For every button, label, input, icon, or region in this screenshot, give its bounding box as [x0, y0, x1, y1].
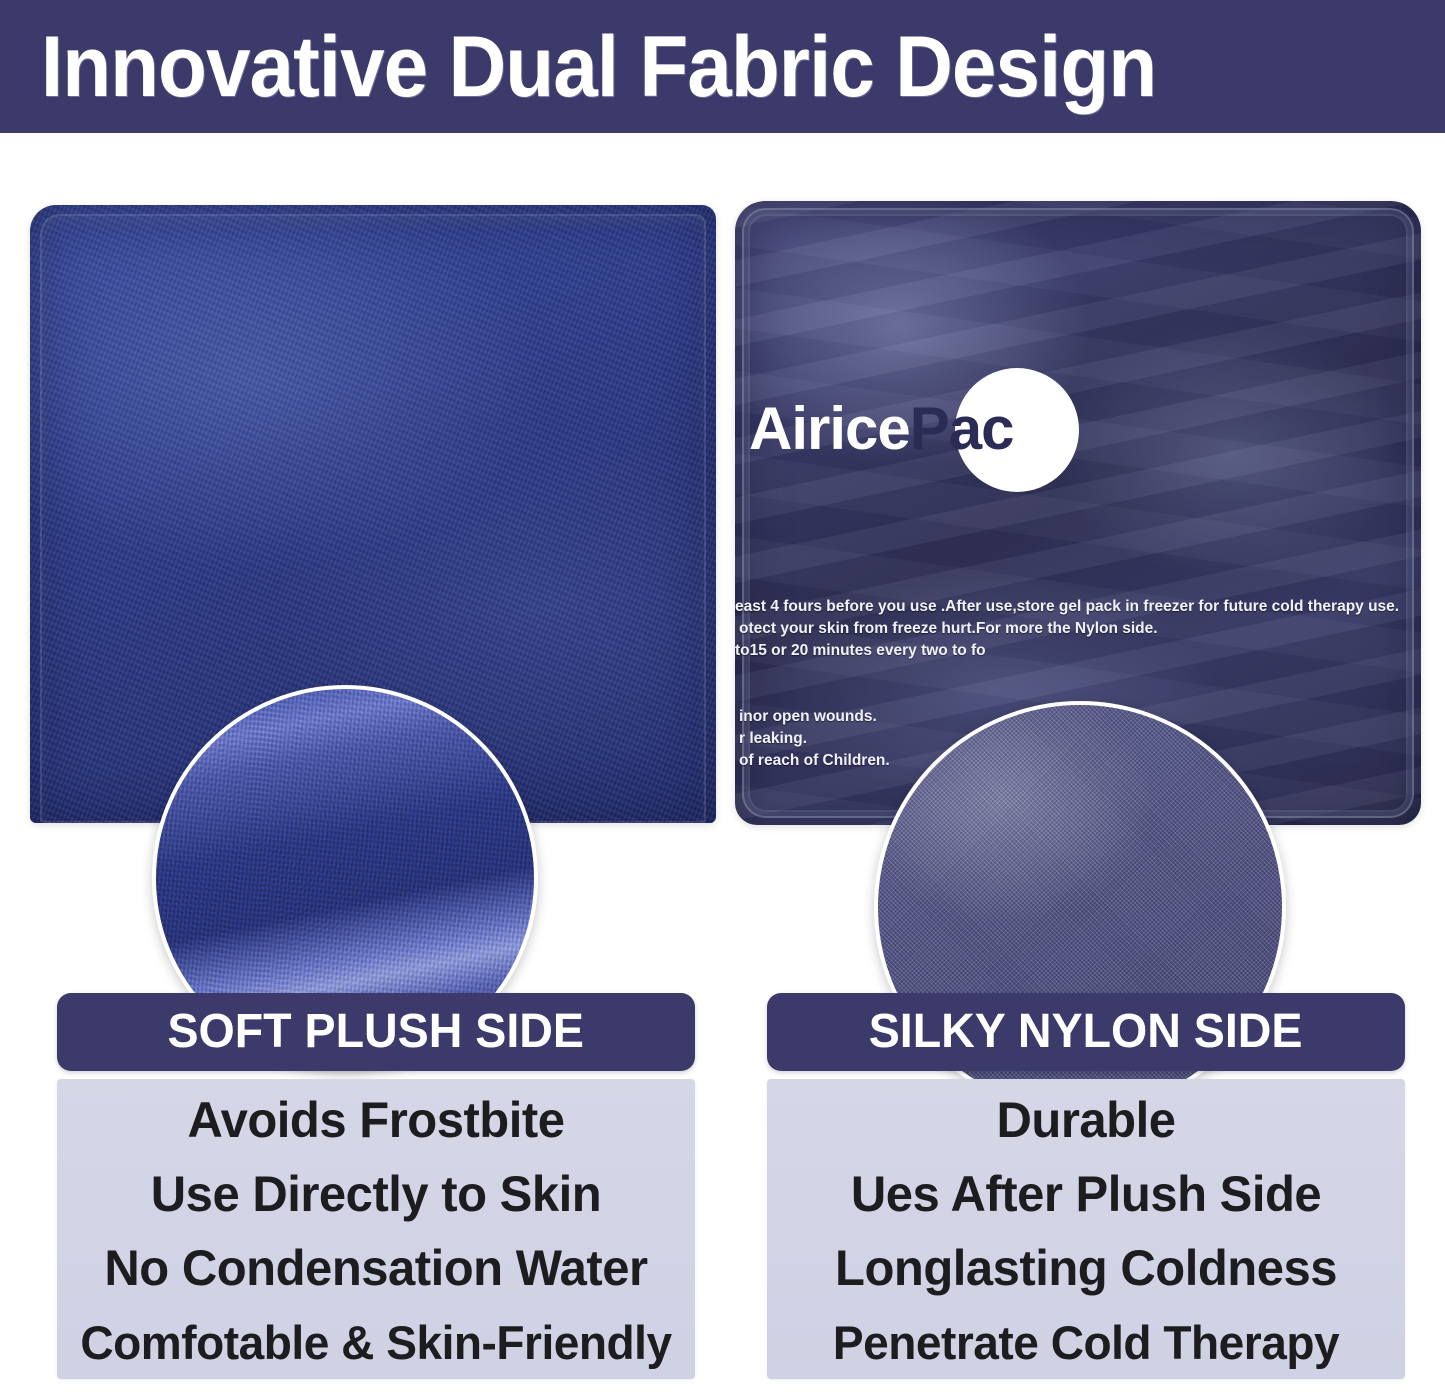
brand-name-primary: Airice — [747, 399, 910, 459]
brand-logo: Airice Pac — [747, 376, 1107, 481]
panel-heading-left: SOFT PLUSH SIDE — [168, 1008, 584, 1056]
instruction-line-3: to15 or 20 minutes every two to fo — [735, 640, 1375, 662]
feature-item: Avoids Frostbite — [63, 1083, 688, 1157]
instruction-line-2: otect your skin from freeze hurt.For mor… — [735, 618, 1375, 640]
product-photo-stage: Airice Pac east 4 fours before you use .… — [0, 133, 1445, 993]
panel-heading-right: SILKY NYLON SIDE — [869, 1008, 1303, 1056]
feature-panels: SOFT PLUSH SIDE Avoids Frostbite Use Dir… — [0, 993, 1445, 1395]
feature-item: Longlasting Coldness — [773, 1231, 1398, 1305]
infographic-page: Innovative Dual Fabric Design Airice Pac… — [0, 0, 1445, 1395]
feature-item: Use Directly to Skin — [63, 1157, 688, 1231]
feature-item: Ues After Plush Side — [773, 1157, 1398, 1231]
feature-item: No Condensation Water — [63, 1231, 688, 1305]
printed-instructions: east 4 fours before you use .After use,s… — [735, 596, 1375, 662]
panel-body-left: Avoids Frostbite Use Directly to Skin No… — [57, 1079, 695, 1379]
panel-soft-plush-side: SOFT PLUSH SIDE Avoids Frostbite Use Dir… — [57, 993, 695, 1379]
feature-item: Durable — [773, 1083, 1398, 1157]
panel-heading-bar-left: SOFT PLUSH SIDE — [57, 993, 695, 1071]
instruction-line-1: east 4 fours before you use .After use,s… — [735, 596, 1375, 618]
panel-body-right: Durable Ues After Plush Side Longlasting… — [767, 1079, 1405, 1379]
brand-name-secondary: Pac — [910, 399, 1014, 459]
page-title: Innovative Dual Fabric Design — [0, 24, 1156, 110]
header-banner: Innovative Dual Fabric Design — [0, 0, 1445, 133]
feature-item: Comfotable & Skin-Friendly — [63, 1305, 688, 1379]
panel-silky-nylon-side: SILKY NYLON SIDE Durable Ues After Plush… — [767, 993, 1405, 1379]
feature-item: Penetrate Cold Therapy — [773, 1305, 1398, 1379]
panel-heading-bar-right: SILKY NYLON SIDE — [767, 993, 1405, 1071]
